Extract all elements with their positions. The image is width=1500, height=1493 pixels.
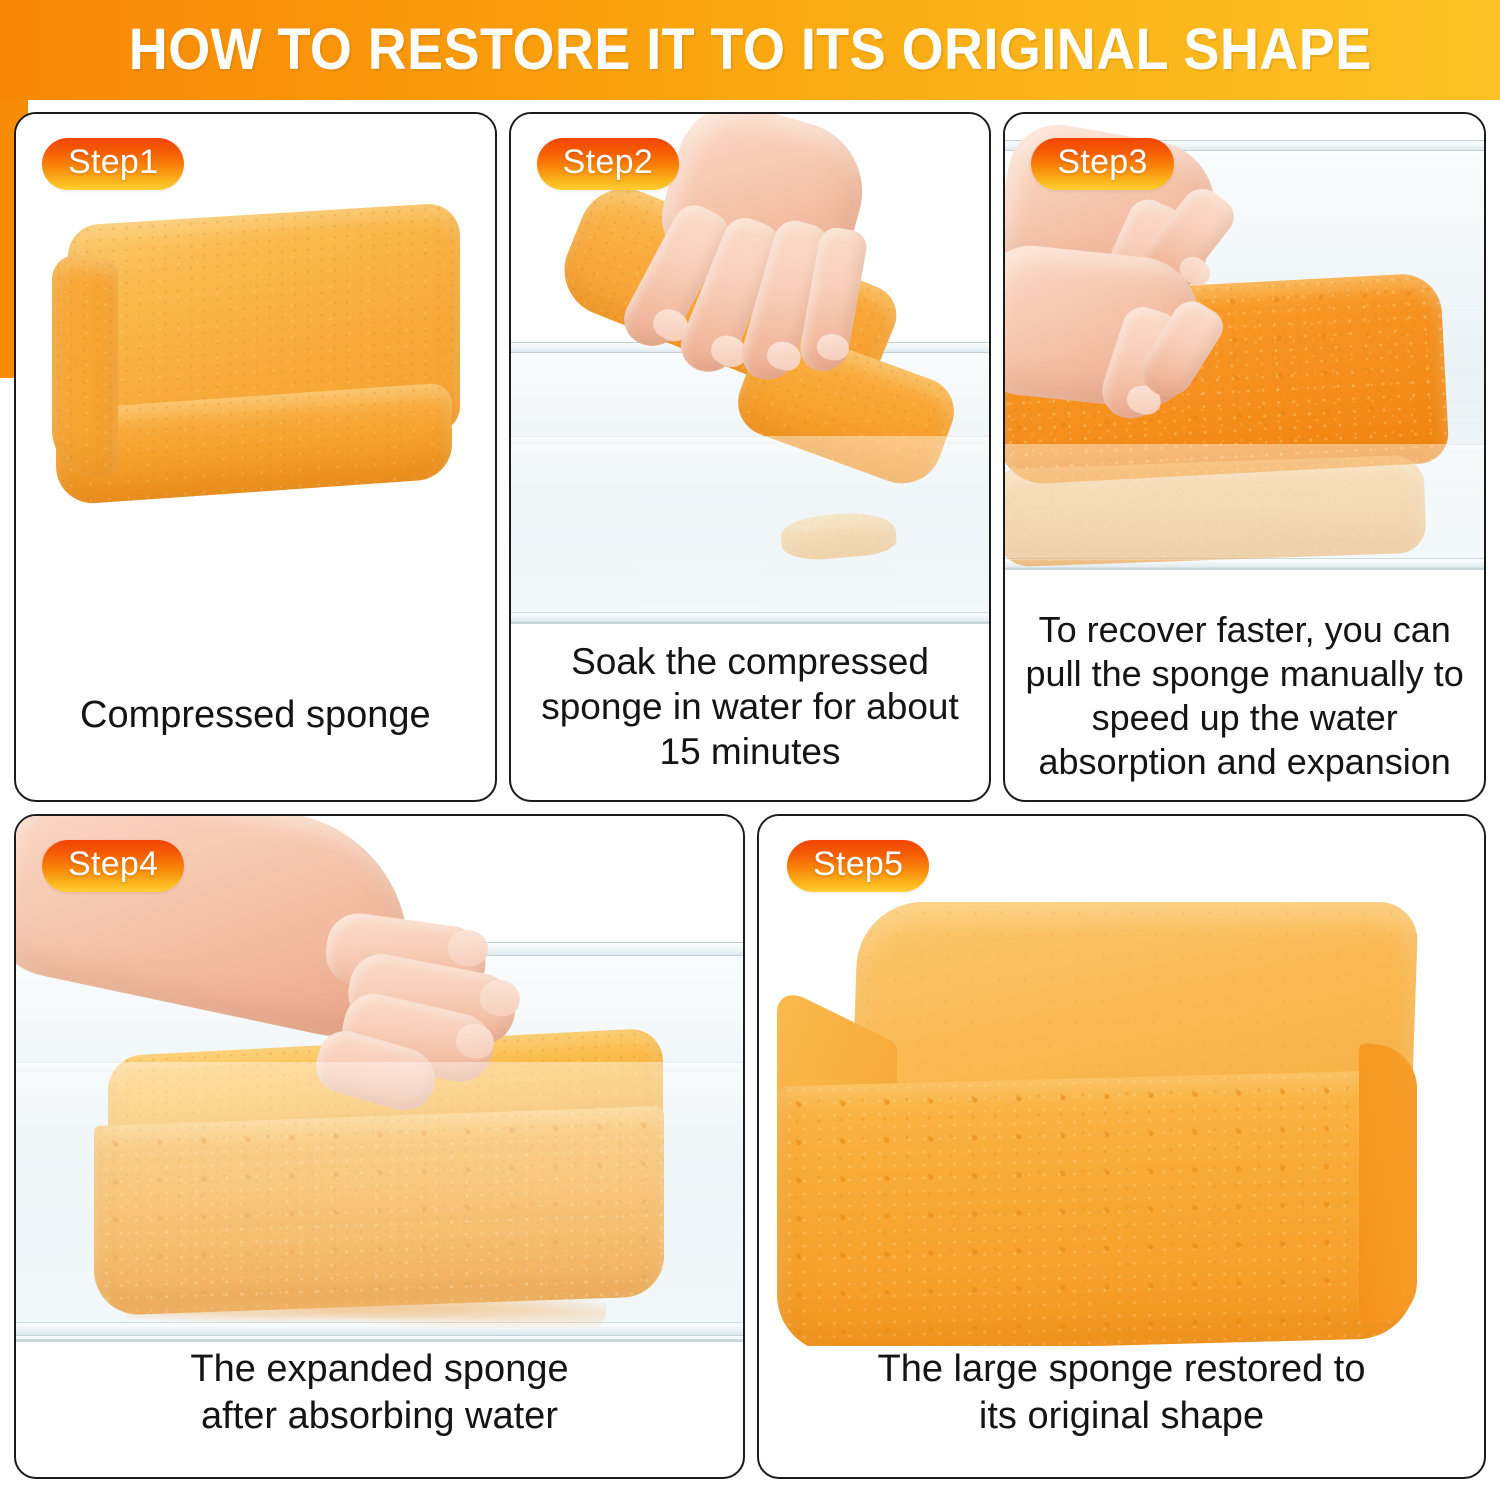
water-splash <box>126 1286 606 1332</box>
step-caption-2: Soak the compressed sponge in water for … <box>511 639 990 800</box>
step-badge-2: Step2 <box>537 138 679 190</box>
expanded-sponge-front-face <box>94 1106 664 1316</box>
step-badge-1: Step1 <box>42 138 184 190</box>
step-badge-4: Step4 <box>42 840 184 892</box>
sponge-front-face <box>777 1070 1415 1347</box>
step-badge-5: Step5 <box>787 840 929 892</box>
sponge-pores <box>94 1106 664 1316</box>
sponge-left-edge <box>52 250 118 482</box>
step-caption-4: The expanded sponge after absorbing wate… <box>16 1346 743 1477</box>
step-card-3[interactable]: Step3 <box>1003 112 1486 802</box>
step-badge-3: Step3 <box>1031 138 1173 190</box>
step-photo-5 <box>759 816 1484 1346</box>
hand-dipping <box>639 124 939 364</box>
step-card-2[interactable]: Step2 <box>509 112 992 802</box>
steps-row-bottom: Step4 <box>14 814 1486 1479</box>
step-caption-3: To recover faster, you can pull the spon… <box>1005 608 1484 800</box>
step-card-1[interactable]: Step1 Compressed sponge <box>14 112 497 802</box>
steps-row-top: Step1 Compressed sponge Step2 <box>14 112 1486 802</box>
header-banner: HOW TO RESTORE IT TO ITS ORIGINAL SHAPE <box>0 0 1500 100</box>
step-photo-1 <box>16 114 495 692</box>
step-card-4[interactable]: Step4 <box>14 814 745 1479</box>
sponge-reflection <box>1005 455 1427 568</box>
step-photo-4 <box>16 816 743 1346</box>
hand-lower-pulling <box>1005 252 1279 462</box>
step-caption-5: The large sponge restored to its origina… <box>759 1346 1484 1477</box>
step-card-5[interactable]: Step5 The large sponge restored to its o… <box>757 814 1486 1479</box>
sponge-right-bevel <box>1359 1042 1417 1330</box>
tray-rim-bottom <box>511 612 990 623</box>
step-caption-1: Compressed sponge <box>16 692 495 800</box>
page-title: HOW TO RESTORE IT TO ITS ORIGINAL SHAPE <box>129 21 1372 79</box>
infographic-page: HOW TO RESTORE IT TO ITS ORIGINAL SHAPE … <box>0 0 1500 1493</box>
step-photo-2 <box>511 114 990 639</box>
